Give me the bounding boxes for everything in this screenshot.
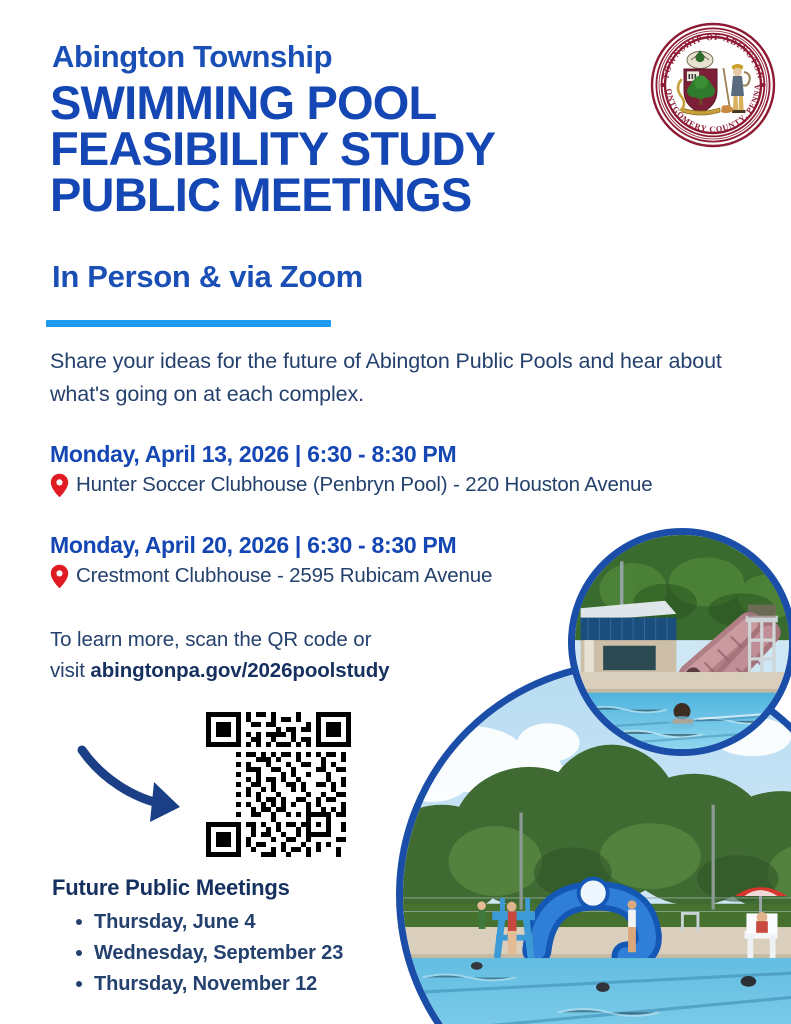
learn-more-text: To learn more, scan the QR code or visit…: [50, 625, 470, 687]
map-pin-icon: [50, 473, 69, 498]
accent-divider: [46, 320, 331, 327]
future-meetings-list: Thursday, June 4 Wednesday, September 23…: [52, 907, 402, 1000]
flyer-canvas: TOWNSHIP OF ABINGTON MONTGOMERY COUNTY, …: [0, 0, 791, 1024]
future-meetings-section: Future Public Meetings Thursday, June 4 …: [52, 875, 402, 1000]
study-url[interactable]: abingtonpa.gov/2026poolstudy: [90, 659, 389, 682]
meeting-2-location-text: Crestmont Clubhouse - 2595 Rubicam Avenu…: [76, 564, 492, 588]
list-item: Thursday, November 12: [76, 969, 402, 1000]
intro-paragraph: Share your ideas for the future of Abing…: [50, 345, 730, 410]
page-subtitle: In Person & via Zoom: [52, 261, 363, 292]
page-title-line-1: SWIMMING POOL: [50, 80, 690, 126]
list-item: Thursday, June 4: [76, 907, 402, 938]
page-title-line-2: FEASIBILITY STUDY: [50, 126, 690, 172]
kicker-abington-township: Abington Township: [52, 41, 332, 72]
pool-slide-clubhouse-photo: [568, 528, 791, 756]
page-title-line-3: PUBLIC MEETINGS: [50, 172, 690, 218]
learn-more-visit-prefix: visit: [50, 659, 90, 682]
meeting-1-location-row: Hunter Soccer Clubhouse (Penbryn Pool) -…: [50, 473, 770, 498]
meeting-1-location-text: Hunter Soccer Clubhouse (Penbryn Pool) -…: [76, 473, 653, 497]
meeting-block-1: Monday, April 13, 2026 | 6:30 - 8:30 PM …: [50, 440, 770, 498]
meeting-1-date: Monday, April 13, 2026 | 6:30 - 8:30 PM: [50, 440, 770, 469]
future-meetings-heading: Future Public Meetings: [52, 875, 402, 901]
list-item: Wednesday, September 23: [76, 938, 402, 969]
page-title: SWIMMING POOL FEASIBILITY STUDY PUBLIC M…: [50, 80, 690, 218]
learn-more-line-1: To learn more, scan the QR code or: [50, 628, 371, 651]
map-pin-icon: [50, 564, 69, 589]
curved-arrow-icon: [76, 742, 200, 828]
qr-code[interactable]: [206, 712, 351, 857]
